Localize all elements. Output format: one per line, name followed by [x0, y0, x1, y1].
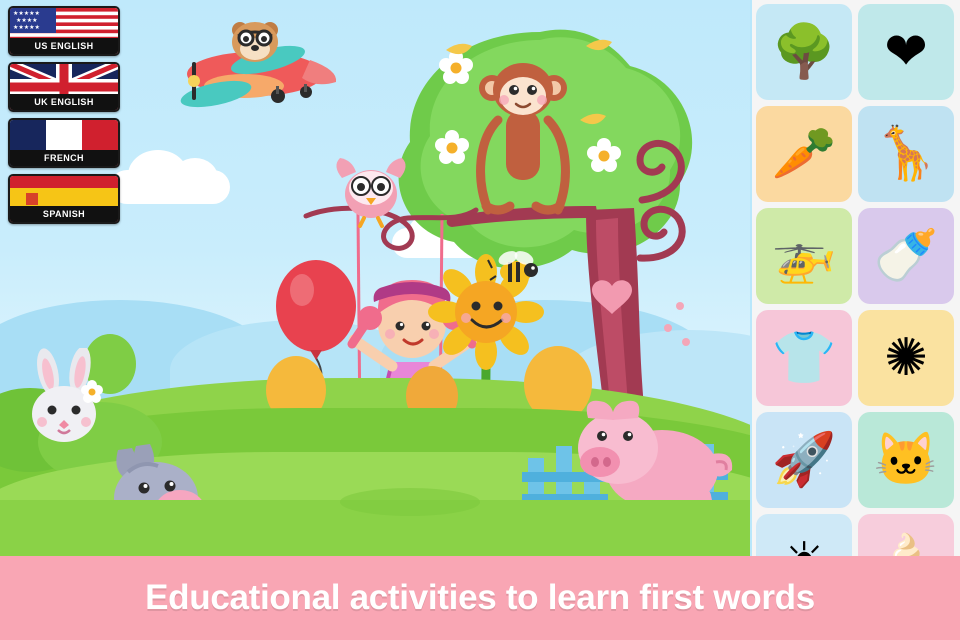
tile-heart[interactable]: ❤ [858, 4, 954, 100]
baby-bottle-icon: 🍼 [874, 230, 939, 282]
giraffe-icon: 🦒 [874, 128, 939, 180]
footer-text: Educational activities to learn first wo… [145, 578, 815, 618]
svg-text:★★★★: ★★★★ [16, 17, 38, 24]
tile-baby-bottle[interactable]: 🍼 [858, 208, 954, 304]
language-selector[interactable]: ★★★★★★★★★★★★★★ US ENGLISH UK ENGLISH FRE… [8, 6, 116, 230]
cat-icon: 🐱 [874, 434, 939, 486]
tile-carrot[interactable]: 🥕 [756, 106, 852, 202]
language-label-spanish: SPANISH [10, 206, 118, 222]
bear-in-airplane[interactable] [160, 12, 340, 132]
tile-cat[interactable]: 🐱 [858, 412, 954, 508]
tile-rocket[interactable]: 🚀 [756, 412, 852, 508]
paint-splat-icon: ✺ [884, 332, 928, 384]
ground-shadow [330, 482, 510, 522]
tile-tshirt[interactable]: 👕 [756, 310, 852, 406]
rocket-icon: 🚀 [772, 434, 837, 486]
footer-banner: Educational activities to learn first wo… [0, 556, 960, 640]
tile-paint-splat[interactable]: ✺ [858, 310, 954, 406]
language-option-us-english[interactable]: ★★★★★★★★★★★★★★ US ENGLISH [8, 6, 120, 56]
tile-tree[interactable]: 🌳 [756, 4, 852, 100]
tshirt-icon: 👕 [772, 332, 837, 384]
tile-giraffe[interactable]: 🦒 [858, 106, 954, 202]
language-label-french: FRENCH [10, 150, 118, 166]
language-label-us-english: US ENGLISH [10, 38, 118, 54]
language-option-spanish[interactable]: SPANISH [8, 174, 120, 224]
owl-on-swing[interactable] [328, 148, 414, 234]
carrot-icon: 🥕 [772, 128, 837, 180]
tree-icon: 🌳 [772, 26, 837, 78]
heart-icon: ❤ [884, 26, 928, 78]
svg-text:★★★★★: ★★★★★ [13, 24, 40, 31]
tile-helicopter[interactable]: 🚁 [756, 208, 852, 304]
word-category-grid[interactable]: 🌳 ❤ 🥕 🦒 🚁 🍼 👕 ✺ 🚀 🐱 ☀ 🍦 [752, 0, 960, 556]
language-label-uk-english: UK ENGLISH [10, 94, 118, 110]
language-option-uk-english[interactable]: UK ENGLISH [8, 62, 120, 112]
app-root: 🌳 ❤ 🥕 🦒 🚁 🍼 👕 ✺ 🚀 🐱 ☀ 🍦 ★ [0, 0, 960, 640]
language-option-french[interactable]: FRENCH [8, 118, 120, 168]
helicopter-icon: 🚁 [772, 230, 837, 282]
cloud-icon [172, 158, 218, 198]
svg-text:★★★★★: ★★★★★ [13, 10, 40, 17]
bee[interactable] [486, 246, 546, 292]
